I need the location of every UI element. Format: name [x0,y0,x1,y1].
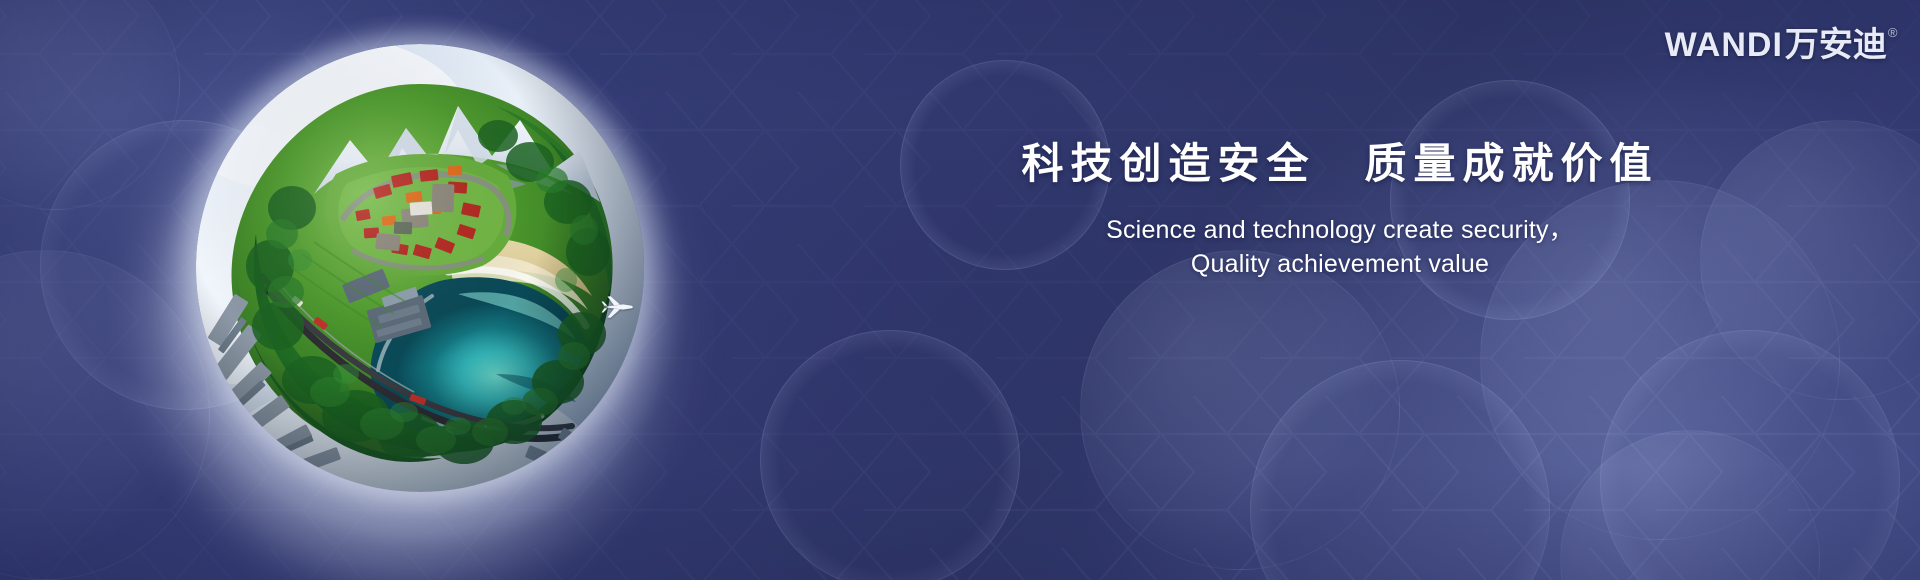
banner-root: WANDI 万安迪 ® [0,0,1920,580]
page-title: 科技创造安全 质量成就价值 [960,140,1720,189]
subtitle-line-2: Quality achievement value [960,247,1720,281]
logo-cjk-text: 万安迪 [1785,28,1887,62]
brand-logo[interactable]: WANDI 万安迪 ® [1665,28,1898,62]
hero-copy: 科技创造安全 质量成就价值 Science and technology cre… [960,140,1720,281]
tiny-planet-globe [196,44,644,544]
logo-latin-text: WANDI [1665,28,1783,62]
subtitle: Science and technology create security， … [960,213,1720,281]
registered-trademark-icon: ® [1888,26,1898,39]
airplane-icon [601,294,635,320]
subtitle-line-1: Science and technology create security， [1106,216,1574,244]
globe-sphere [196,44,644,492]
